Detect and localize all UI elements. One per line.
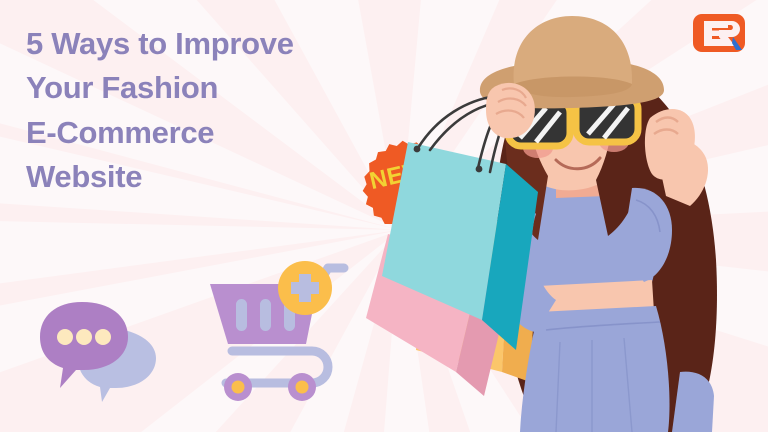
- plus-badge-icon: [278, 261, 332, 315]
- chat-bubble-group: [34, 298, 162, 404]
- woman-shopper-illustration: [360, 0, 768, 432]
- shopping-cart-icon: [202, 252, 354, 404]
- chat-dot-2: [76, 329, 92, 345]
- skirt: [520, 306, 670, 432]
- chat-dot-3: [95, 329, 111, 345]
- marketing-banner: 5 Ways to Improve Your Fashion E-Commerc…: [0, 0, 768, 432]
- chat-dot-1: [57, 329, 73, 345]
